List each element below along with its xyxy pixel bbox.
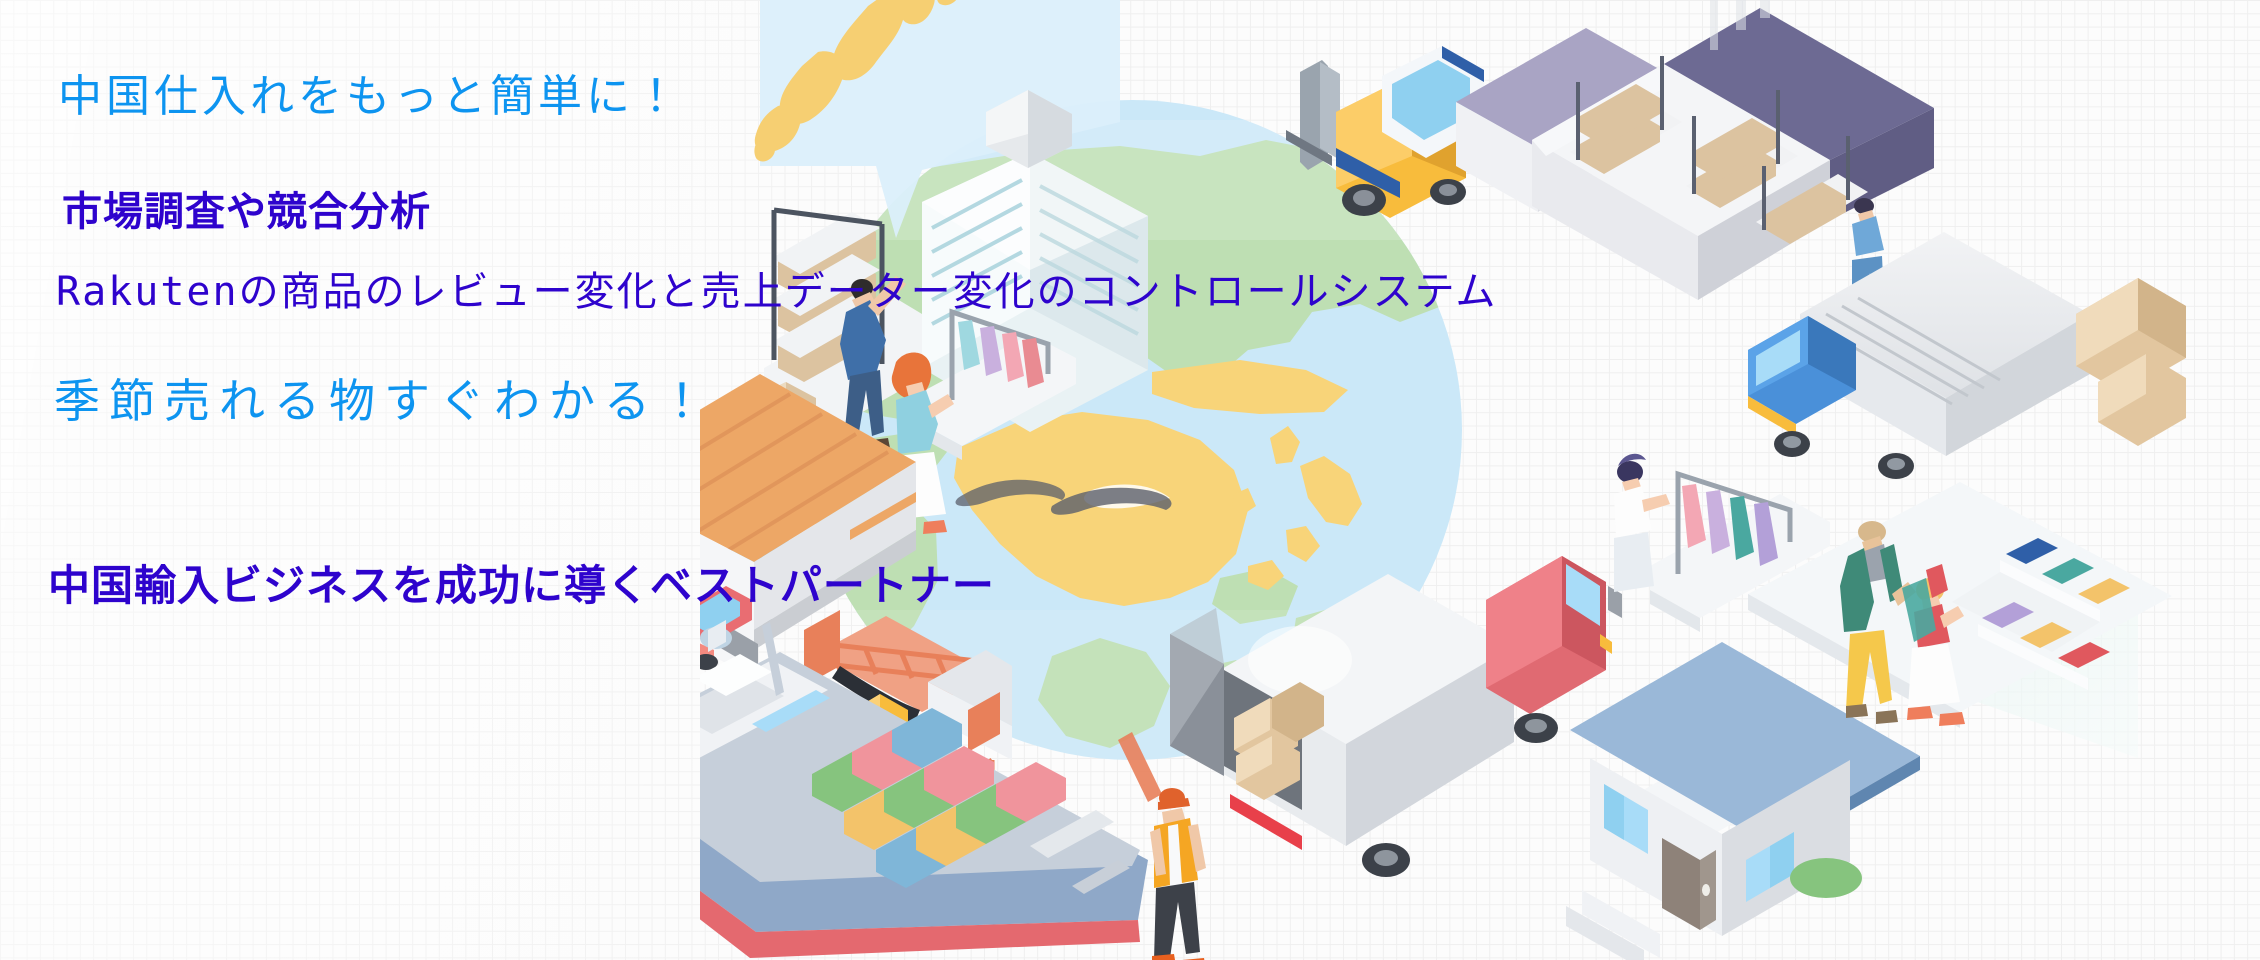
distribution-warehouse-graphic [1456,0,1934,307]
warehouse-woman [1852,198,1884,307]
headline-line-2: 市場調査や競合分析 [62,192,431,232]
bird-graphic [955,480,1065,506]
ship-containers [812,708,1066,888]
background-gradient-overlay [0,0,2260,960]
headline-line-3: Rakutenの商品のレビュー変化と売上データー変化のコントロールシステム [56,272,1497,312]
shop-staff [1614,454,1670,592]
cargo-boxes-right [2076,278,2186,446]
truck-interior-boxes [1234,682,1324,800]
orange-roof-factory-graphic [700,374,916,960]
port-crane-graphic [804,610,1012,912]
background-grid [0,0,2260,960]
headline-line-4: 季節売れる物すぐわかる！ [54,378,714,424]
headline-line-5: 中国輸入ビジネスを成功に導くベストパートナー [48,565,995,607]
container-ship-graphic [700,620,1148,958]
shopper-woman [889,352,954,534]
warehouse-shelf-worker-graphic [764,210,922,450]
shopper-man [1840,521,1916,724]
blue-cargo-truck-graphic [1748,232,2186,479]
house-blue-roof-graphic [1566,642,1920,960]
clothing-rack-shopper-graphic [889,312,1076,534]
hero-banner: 中国仕入れをもっと簡単に！ 市場調査や競合分析 Rakutenの商品のレビュー変… [0,0,2260,960]
japan-map-panel-graphic [754,0,1120,238]
headline-line-1: 中国仕入れをもっと簡単に！ [58,75,682,119]
retail-shop-scene-graphic [1748,482,2172,758]
global-trade-illustration [700,0,2200,960]
shopper-woman-2 [1907,578,1965,726]
shop-shelves [1952,538,2130,690]
forklift-graphic [1286,46,1484,218]
office-building-graphic [922,90,1148,432]
globe-graphic [800,100,1462,790]
red-delivery-truck-graphic [1170,556,1622,877]
clothing-rack-2-graphic [1614,454,1830,632]
dock-worker-graphic [1118,732,1206,960]
